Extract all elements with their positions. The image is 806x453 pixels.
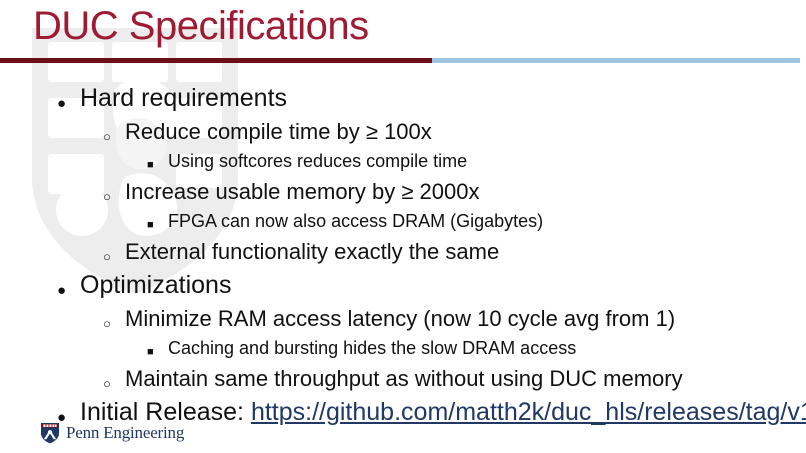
list-item: ○ Maintain same throughput as without us… xyxy=(0,366,806,398)
list-item: ○ External functionality exactly the sam… xyxy=(0,239,806,271)
list-item: ● Hard requirements xyxy=(0,84,806,119)
page-title: DUC Specifications xyxy=(33,4,369,49)
list-item-label: FPGA can now also access DRAM (Gigabytes… xyxy=(168,211,543,232)
title-divider-rule xyxy=(0,58,806,63)
hollow-circle-bullet: ○ xyxy=(103,377,111,390)
slide-canvas: DUC Specifications ● Hard requirements ○… xyxy=(0,0,806,453)
list-item: ● Optimizations xyxy=(0,271,806,306)
list-item-label: Caching and bursting hides the slow DRAM… xyxy=(168,338,576,359)
list-item: ○ Increase usable memory by ≥ 2000x xyxy=(0,179,806,211)
list-item-label: Hard requirements xyxy=(80,84,287,113)
divider-red-segment xyxy=(0,58,432,63)
divider-blue-segment xyxy=(432,58,800,63)
list-item-label: External functionality exactly the same xyxy=(125,239,499,265)
hollow-circle-bullet: ○ xyxy=(103,250,111,263)
list-item: ■ FPGA can now also access DRAM (Gigabyt… xyxy=(0,211,806,239)
release-url-link[interactable]: https://github.com/matth2k/duc_hls/relea… xyxy=(251,398,806,426)
filled-circle-bullet: ● xyxy=(57,283,66,298)
filled-square-bullet: ■ xyxy=(147,160,154,171)
footer-logo-text: Penn Engineering xyxy=(66,423,184,443)
list-item: ○ Minimize RAM access latency (now 10 cy… xyxy=(0,306,806,338)
penn-shield-icon xyxy=(38,421,62,445)
list-item-label: Maintain same throughput as without usin… xyxy=(125,366,683,392)
filled-square-bullet: ■ xyxy=(147,220,154,231)
hollow-circle-bullet: ○ xyxy=(103,317,111,330)
initial-release-label: Initial Release: https://github.com/matt… xyxy=(80,398,806,427)
list-item-label: Minimize RAM access latency (now 10 cycl… xyxy=(125,306,675,332)
list-item-label: Optimizations xyxy=(80,271,231,300)
list-item-label: Reduce compile time by ≥ 100x xyxy=(125,119,432,145)
list-item: ○ Reduce compile time by ≥ 100x xyxy=(0,119,806,151)
filled-square-bullet: ■ xyxy=(147,347,154,358)
footer-logo: Penn Engineering xyxy=(38,421,184,445)
hollow-circle-bullet: ○ xyxy=(103,190,111,203)
bullet-list: ● Hard requirements ○ Reduce compile tim… xyxy=(0,84,806,433)
list-item: ■ Caching and bursting hides the slow DR… xyxy=(0,338,806,366)
filled-circle-bullet: ● xyxy=(57,96,66,111)
list-item-label: Increase usable memory by ≥ 2000x xyxy=(125,179,479,205)
list-item: ■ Using softcores reduces compile time xyxy=(0,151,806,179)
list-item-label: Using softcores reduces compile time xyxy=(168,151,467,172)
hollow-circle-bullet: ○ xyxy=(103,130,111,143)
